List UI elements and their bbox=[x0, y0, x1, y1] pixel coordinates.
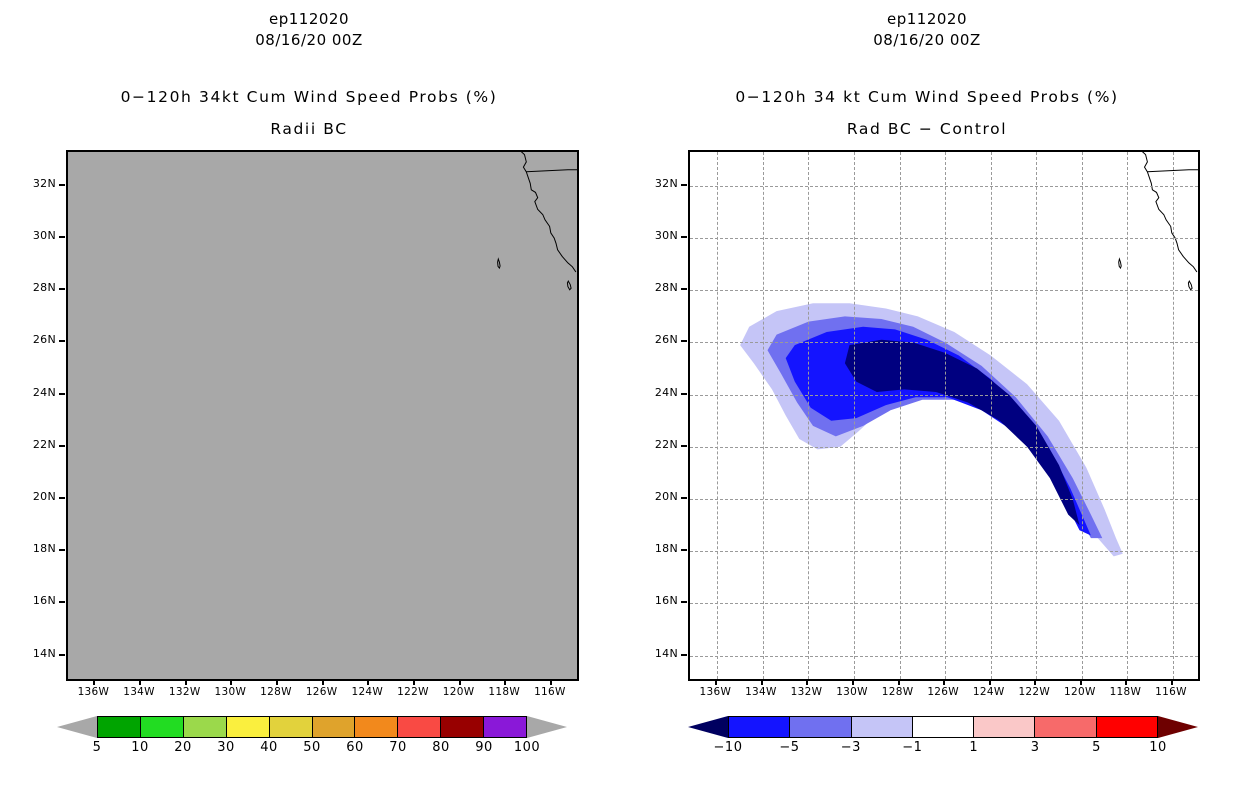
colorbar-tick-left-60: 60 bbox=[346, 740, 364, 755]
colorbar-segment-left-3 bbox=[226, 716, 269, 738]
x-axis-label-136W: 136W bbox=[692, 686, 738, 698]
colorbar-segment-left-1 bbox=[140, 716, 183, 738]
x-axis-tick-126W bbox=[322, 679, 324, 685]
x-axis-label-132W: 132W bbox=[783, 686, 829, 698]
x-axis-label-122W: 122W bbox=[390, 686, 436, 698]
gridline-vertical-118W bbox=[1127, 152, 1128, 679]
colorbar-right bbox=[728, 716, 1158, 738]
colorbar-tick-left-50: 50 bbox=[303, 740, 321, 755]
colorbar-tick-right-minus3: −3 bbox=[841, 740, 861, 755]
x-axis-label-120W: 120W bbox=[1057, 686, 1103, 698]
y-axis-label-28N: 28N bbox=[22, 281, 56, 294]
y-axis-label-18N: 18N bbox=[22, 542, 56, 555]
gridline-horizontal-28N bbox=[690, 290, 1198, 291]
border-us-mexico bbox=[526, 170, 577, 172]
y-axis-tick-22N bbox=[59, 445, 65, 447]
gridline-vertical-120W bbox=[1082, 152, 1083, 679]
island-guadalupe bbox=[1119, 259, 1122, 268]
gridline-horizontal-18N bbox=[690, 551, 1198, 552]
gridline-vertical-116W bbox=[1173, 152, 1174, 679]
x-axis-label-118W: 118W bbox=[1102, 686, 1148, 698]
x-axis-tick-116W bbox=[1171, 679, 1173, 685]
colorbar-tick-left-100: 100 bbox=[514, 740, 540, 755]
colorbar-tick-left-10: 10 bbox=[131, 740, 149, 755]
x-axis-tick-122W bbox=[413, 679, 415, 685]
colorbar-segment-right-2 bbox=[851, 716, 912, 738]
x-axis-label-126W: 126W bbox=[299, 686, 345, 698]
gridline-vertical-124W bbox=[991, 152, 992, 679]
y-axis-tick-16N bbox=[681, 601, 687, 603]
colorbar-tick-right-minus10: −10 bbox=[714, 740, 743, 755]
colorbar-tick-right-minus5: −5 bbox=[779, 740, 799, 755]
y-axis-tick-16N bbox=[59, 601, 65, 603]
panel-title: 0−120h 34kt Cum Wind Speed Probs (%) bbox=[0, 88, 618, 106]
gridline-horizontal-20N bbox=[690, 499, 1198, 500]
x-axis-label-134W: 134W bbox=[738, 686, 784, 698]
x-axis-tick-134W bbox=[139, 679, 141, 685]
y-axis-tick-28N bbox=[681, 288, 687, 290]
panel-subtitle: Radii BC bbox=[0, 120, 618, 138]
x-axis-label-128W: 128W bbox=[253, 686, 299, 698]
contour-band-minus1-to-minus3 bbox=[740, 303, 1123, 556]
x-axis-label-136W: 136W bbox=[70, 686, 116, 698]
y-axis-tick-20N bbox=[59, 497, 65, 499]
y-axis-label-14N: 14N bbox=[644, 647, 678, 660]
coastline-overlay bbox=[690, 152, 1198, 679]
contour-band-minus5-to-minus10 bbox=[786, 327, 1091, 536]
colorbar-tick-right-10: 10 bbox=[1149, 740, 1167, 755]
x-axis-tick-136W bbox=[93, 679, 95, 685]
x-axis-label-116W: 116W bbox=[1148, 686, 1194, 698]
x-axis-label-128W: 128W bbox=[875, 686, 921, 698]
y-axis-tick-14N bbox=[681, 654, 687, 656]
y-axis-label-20N: 20N bbox=[644, 490, 678, 503]
y-axis-label-30N: 30N bbox=[22, 229, 56, 242]
gridline-horizontal-14N bbox=[690, 656, 1198, 657]
y-axis-label-18N: 18N bbox=[644, 542, 678, 555]
colorbar-ticklabels-left: 5102030405060708090100 bbox=[97, 740, 527, 758]
x-axis-tick-120W bbox=[1080, 679, 1082, 685]
colorbar-tick-left-5: 5 bbox=[93, 740, 102, 755]
colorbar-segment-left-5 bbox=[312, 716, 355, 738]
x-axis-label-118W: 118W bbox=[481, 686, 527, 698]
y-axis-tick-18N bbox=[681, 549, 687, 551]
colorbar-segment-left-0 bbox=[97, 716, 140, 738]
x-axis-label-120W: 120W bbox=[436, 686, 482, 698]
colorbar-segment-right-5 bbox=[1034, 716, 1095, 738]
panel-title: 0−120h 34 kt Cum Wind Speed Probs (%) bbox=[618, 88, 1236, 106]
y-axis-tick-28N bbox=[59, 288, 65, 290]
x-axis-tick-130W bbox=[852, 679, 854, 685]
gridline-vertical-128W bbox=[900, 152, 901, 679]
colorbar-segment-right-4 bbox=[973, 716, 1034, 738]
y-axis-tick-30N bbox=[59, 236, 65, 238]
panel-storm-id: ep112020 bbox=[0, 10, 618, 28]
map-plot-area-left bbox=[66, 150, 579, 681]
x-axis-tick-132W bbox=[185, 679, 187, 685]
y-axis-label-16N: 16N bbox=[644, 594, 678, 607]
coastline-baja bbox=[1140, 152, 1197, 272]
colorbar-segment-right-0 bbox=[728, 716, 789, 738]
colorbar-tick-left-40: 40 bbox=[260, 740, 278, 755]
y-axis-tick-26N bbox=[681, 340, 687, 342]
y-axis-tick-32N bbox=[681, 184, 687, 186]
colorbar-tick-left-70: 70 bbox=[389, 740, 407, 755]
y-axis-tick-24N bbox=[681, 393, 687, 395]
x-axis-label-122W: 122W bbox=[1011, 686, 1057, 698]
colorbar-tick-left-20: 20 bbox=[174, 740, 192, 755]
coastline-overlay bbox=[68, 152, 577, 679]
y-axis-label-22N: 22N bbox=[22, 438, 56, 451]
y-axis-label-24N: 24N bbox=[22, 386, 56, 399]
x-axis-tick-128W bbox=[276, 679, 278, 685]
x-axis-label-124W: 124W bbox=[344, 686, 390, 698]
x-axis-tick-124W bbox=[989, 679, 991, 685]
colorbar-left bbox=[97, 716, 527, 738]
y-axis-tick-20N bbox=[681, 497, 687, 499]
gridline-horizontal-30N bbox=[690, 238, 1198, 239]
gridline-horizontal-24N bbox=[690, 395, 1198, 396]
x-axis-tick-132W bbox=[806, 679, 808, 685]
colorbar-tick-right-3: 3 bbox=[1031, 740, 1040, 755]
y-axis-tick-32N bbox=[59, 184, 65, 186]
gridline-horizontal-16N bbox=[690, 603, 1198, 604]
colorbar-segment-left-6 bbox=[354, 716, 397, 738]
colorbar-tick-right-minus1: −1 bbox=[902, 740, 922, 755]
y-axis-label-14N: 14N bbox=[22, 647, 56, 660]
colorbar-segment-left-7 bbox=[397, 716, 440, 738]
island-cedros bbox=[1188, 281, 1192, 290]
gridline-vertical-122W bbox=[1036, 152, 1037, 679]
y-axis-label-30N: 30N bbox=[644, 229, 678, 242]
x-axis-tick-116W bbox=[550, 679, 552, 685]
x-axis-label-132W: 132W bbox=[162, 686, 208, 698]
panel-datetime: 08/16/20 00Z bbox=[0, 31, 618, 49]
map-plot-area-right bbox=[688, 150, 1200, 681]
coastline-baja bbox=[519, 152, 576, 272]
gridline-horizontal-32N bbox=[690, 186, 1198, 187]
colorbar-segment-left-4 bbox=[269, 716, 312, 738]
y-axis-tick-30N bbox=[681, 236, 687, 238]
y-axis-tick-14N bbox=[59, 654, 65, 656]
x-axis-tick-128W bbox=[898, 679, 900, 685]
x-axis-tick-136W bbox=[715, 679, 717, 685]
colorbar-segment-left-2 bbox=[183, 716, 226, 738]
colorbar-segment-right-1 bbox=[789, 716, 850, 738]
x-axis-label-124W: 124W bbox=[966, 686, 1012, 698]
contour-band-minus3-to-minus5 bbox=[768, 316, 1103, 538]
colorbar-segment-right-3 bbox=[912, 716, 973, 738]
colorbar-segment-right-6 bbox=[1096, 716, 1158, 738]
gridline-horizontal-26N bbox=[690, 342, 1198, 343]
colorbar-tick-right-5: 5 bbox=[1092, 740, 1101, 755]
y-axis-label-28N: 28N bbox=[644, 281, 678, 294]
gridline-vertical-126W bbox=[945, 152, 946, 679]
y-axis-label-16N: 16N bbox=[22, 594, 56, 607]
x-axis-tick-118W bbox=[1125, 679, 1127, 685]
colorbar-segment-left-9 bbox=[483, 716, 527, 738]
gridline-horizontal-22N bbox=[690, 447, 1198, 448]
y-axis-label-20N: 20N bbox=[22, 490, 56, 503]
contour-band-below-minus10 bbox=[845, 340, 1080, 525]
island-guadalupe bbox=[498, 259, 501, 268]
gridline-vertical-136W bbox=[717, 152, 718, 679]
island-cedros bbox=[567, 281, 571, 290]
colorbar-ticklabels-right: −10−5−3−113510 bbox=[728, 740, 1158, 758]
x-axis-tick-118W bbox=[504, 679, 506, 685]
x-axis-tick-130W bbox=[230, 679, 232, 685]
x-axis-label-130W: 130W bbox=[829, 686, 875, 698]
colorbar-under-arrow-right bbox=[688, 716, 728, 738]
x-axis-tick-134W bbox=[761, 679, 763, 685]
contour-overlay bbox=[690, 152, 1198, 679]
x-axis-tick-124W bbox=[367, 679, 369, 685]
colorbar-segment-left-8 bbox=[440, 716, 483, 738]
colorbar-tick-left-80: 80 bbox=[432, 740, 450, 755]
panel-subtitle: Rad BC − Control bbox=[618, 120, 1236, 138]
y-axis-label-26N: 26N bbox=[22, 333, 56, 346]
panel-datetime: 08/16/20 00Z bbox=[618, 31, 1236, 49]
colorbar-tick-left-90: 90 bbox=[475, 740, 493, 755]
x-axis-label-126W: 126W bbox=[920, 686, 966, 698]
gridline-vertical-130W bbox=[854, 152, 855, 679]
gridline-vertical-132W bbox=[808, 152, 809, 679]
x-axis-label-134W: 134W bbox=[116, 686, 162, 698]
colorbar-tick-right-1: 1 bbox=[969, 740, 978, 755]
y-axis-tick-18N bbox=[59, 549, 65, 551]
gridline-vertical-134W bbox=[763, 152, 764, 679]
panel-storm-id: ep112020 bbox=[618, 10, 1236, 28]
x-axis-label-116W: 116W bbox=[527, 686, 573, 698]
y-axis-label-26N: 26N bbox=[644, 333, 678, 346]
x-axis-tick-122W bbox=[1034, 679, 1036, 685]
y-axis-label-32N: 32N bbox=[22, 177, 56, 190]
y-axis-label-24N: 24N bbox=[644, 386, 678, 399]
colorbar-over-arrow-left bbox=[527, 716, 567, 738]
x-axis-tick-120W bbox=[459, 679, 461, 685]
colorbar-under-arrow-left bbox=[57, 716, 97, 738]
colorbar-tick-left-30: 30 bbox=[217, 740, 235, 755]
y-axis-label-22N: 22N bbox=[644, 438, 678, 451]
x-axis-tick-126W bbox=[943, 679, 945, 685]
x-axis-label-130W: 130W bbox=[207, 686, 253, 698]
y-axis-tick-24N bbox=[59, 393, 65, 395]
y-axis-tick-22N bbox=[681, 445, 687, 447]
colorbar-over-arrow-right bbox=[1158, 716, 1198, 738]
y-axis-label-32N: 32N bbox=[644, 177, 678, 190]
panel-radii-bc: ep112020 08/16/20 00Z 0−120h 34kt Cum Wi… bbox=[0, 0, 618, 800]
y-axis-tick-26N bbox=[59, 340, 65, 342]
